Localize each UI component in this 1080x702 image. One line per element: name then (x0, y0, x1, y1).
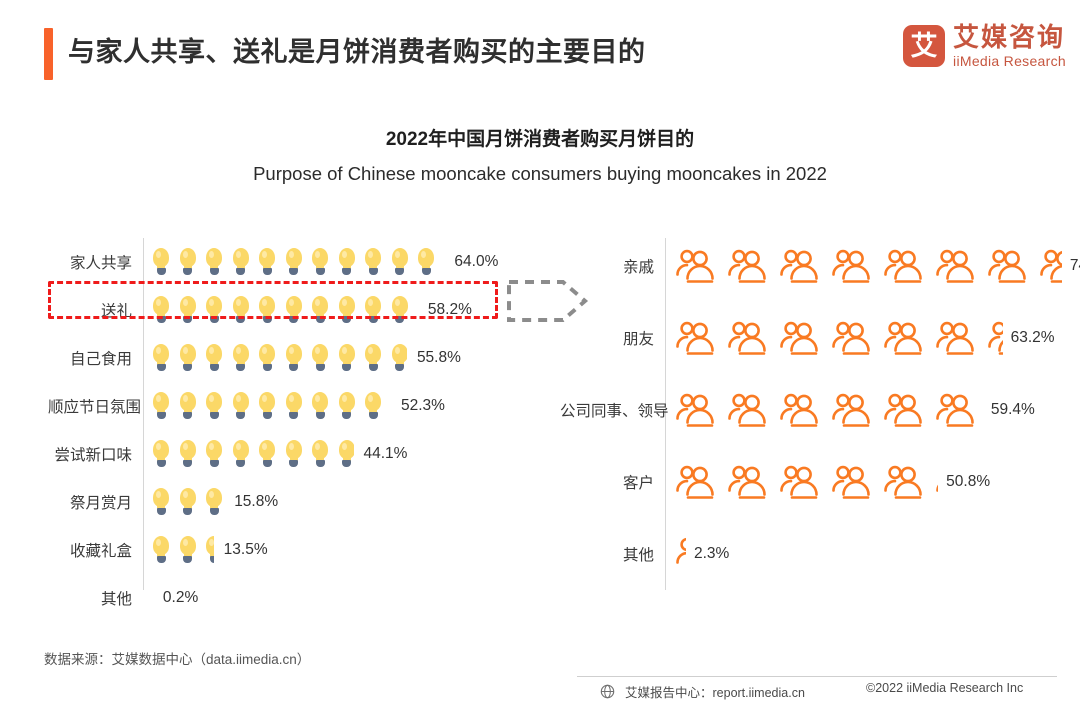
lightbulb-icon (179, 439, 197, 469)
pictogram-icons (674, 530, 686, 578)
lightbulb-icon (364, 391, 382, 421)
category-label: 自己食用 (48, 347, 132, 369)
partial-icon (934, 391, 983, 429)
people-group-icon (986, 319, 1003, 357)
chart-row: 自己食用55.8% (48, 334, 548, 382)
value-label: 59.4% (991, 386, 1035, 434)
lightbulb-icon (258, 295, 276, 325)
category-label: 收藏礼盒 (48, 539, 132, 561)
category-label: 尝试新口味 (48, 443, 132, 465)
people-group-icon (674, 247, 718, 285)
pictogram-icons (152, 286, 417, 334)
chart-row: 尝试新口味44.1% (48, 430, 548, 478)
lightbulb-icon (285, 439, 303, 469)
lightbulb-icon (311, 391, 329, 421)
purpose-pictogram-chart: 家人共享64.0%送礼58.2%自己食用55.8%顺应节日氛围52.3%尝试新口… (48, 232, 548, 602)
people-group-icon (986, 247, 1030, 285)
lightbulb-icon (258, 439, 276, 469)
chart-row: 送礼58.2% (48, 286, 548, 334)
people-group-icon (934, 391, 978, 429)
partial-icon (1038, 247, 1062, 285)
partial-icon (986, 319, 1003, 357)
people-group-icon (778, 463, 822, 501)
logo-text: 艾媒咨询 iiMedia Research (953, 24, 1066, 68)
category-label: 其他 (48, 587, 132, 609)
people-group-icon (726, 463, 770, 501)
lightbulb-icon (258, 391, 276, 421)
chart-row: 其他0.2% (48, 574, 548, 622)
lightbulb-icon (152, 247, 170, 277)
lightbulb-icon (152, 295, 170, 325)
logo-name-en: iiMedia Research (953, 54, 1066, 68)
lightbulb-icon (205, 535, 214, 565)
lightbulb-icon (311, 439, 329, 469)
lightbulb-icon (338, 247, 356, 277)
page-header: 与家人共享、送礼是月饼消费者购买的主要目的 艾 艾媒咨询 iiMedia Res… (0, 0, 1080, 104)
lightbulb-icon (179, 391, 197, 421)
chart-row: 亲戚74.6% (560, 242, 1050, 290)
chart-row: 公司同事、领导59.4% (560, 386, 1050, 434)
globe-icon (600, 684, 615, 699)
people-group-icon (778, 319, 822, 357)
footer-divider (577, 676, 1057, 677)
people-group-icon (1038, 247, 1062, 285)
lightbulb-icon (205, 295, 223, 325)
people-group-icon (882, 463, 926, 501)
partial-icon (338, 435, 354, 473)
pictogram-icons (152, 478, 224, 526)
partial-icon (391, 339, 407, 377)
people-group-icon (674, 463, 718, 501)
lightbulb-icon (205, 247, 223, 277)
lightbulb-icon (258, 247, 276, 277)
pictogram-icons (674, 242, 1062, 290)
source-note: 数据来源：艾媒数据中心（data.iimedia.cn） (44, 648, 310, 668)
lightbulb-icon (205, 487, 223, 517)
lightbulb-icon (285, 391, 303, 421)
partial-icon (674, 535, 686, 573)
pictogram-icons (152, 382, 391, 430)
pictogram-icons (152, 334, 407, 382)
lightbulb-icon (417, 247, 435, 277)
value-label: 0.2% (163, 574, 198, 622)
lightbulb-icon (205, 343, 223, 373)
chart-row: 顺应节日氛围52.3% (48, 382, 548, 430)
lightbulb-icon (311, 343, 329, 373)
value-label: 64.0% (454, 238, 498, 286)
value-label: 55.8% (417, 334, 461, 382)
people-group-icon (778, 247, 822, 285)
lightbulb-icon (338, 295, 356, 325)
lightbulb-icon (232, 247, 250, 277)
lightbulb-icon (338, 391, 356, 421)
lightbulb-icon (179, 535, 197, 565)
lightbulb-icon (311, 295, 329, 325)
lightbulb-icon (364, 343, 382, 373)
logo-name-cn: 艾媒咨询 (953, 24, 1066, 50)
chart-row: 家人共享64.0% (48, 238, 548, 286)
lightbulb-icon (391, 247, 409, 277)
people-group-icon (830, 247, 874, 285)
category-label: 公司同事、领导 (560, 399, 654, 421)
lightbulb-icon (152, 439, 170, 469)
pictogram-icons (152, 430, 354, 478)
value-label: 63.2% (1011, 314, 1055, 362)
footer-report-center-label: 艾媒报告中心：report.iimedia.cn (625, 682, 805, 701)
lightbulb-icon (232, 343, 250, 373)
people-group-icon (674, 391, 718, 429)
lightbulb-icon (179, 487, 197, 517)
value-label: 52.3% (401, 382, 445, 430)
chart-title-en: Purpose of Chinese mooncake consumers bu… (0, 163, 1080, 185)
lightbulb-icon (205, 391, 223, 421)
lightbulb-icon (152, 391, 170, 421)
lightbulb-icon (364, 295, 382, 325)
lightbulb-icon (391, 295, 409, 325)
category-label: 顺应节日氛围 (48, 395, 132, 417)
lightbulb-icon (285, 343, 303, 373)
value-label: 74.6% (1070, 242, 1080, 290)
pictogram-icons (152, 526, 214, 574)
people-group-icon (726, 319, 770, 357)
people-group-icon (934, 319, 978, 357)
lightbulb-icon (152, 535, 170, 565)
people-group-icon (726, 391, 770, 429)
category-label: 客户 (560, 471, 654, 493)
lightbulb-icon (285, 247, 303, 277)
category-label: 祭月赏月 (48, 491, 132, 513)
partial-icon (934, 463, 938, 501)
pictogram-icons (674, 314, 1003, 362)
value-label: 44.1% (363, 430, 407, 478)
value-label: 58.2% (428, 286, 472, 334)
value-label: 15.8% (234, 478, 278, 526)
category-label: 送礼 (48, 299, 132, 321)
value-label: 2.3% (694, 530, 729, 578)
category-label: 朋友 (560, 327, 654, 349)
lightbulb-icon (285, 295, 303, 325)
people-group-icon (830, 319, 874, 357)
chart-title-cn: 2022年中国月饼消费者购买月饼目的 (0, 124, 1080, 151)
dashed-arrow-right-icon (505, 272, 600, 330)
chart-row: 客户50.8% (560, 458, 1050, 506)
lightbulb-icon (364, 247, 382, 277)
lightbulb-icon (232, 295, 250, 325)
people-group-icon (778, 391, 822, 429)
pictogram-icons (674, 458, 938, 506)
people-group-icon (674, 319, 718, 357)
pictogram-icons (674, 386, 983, 434)
footer-copyright: ©2022 iiMedia Research Inc (866, 681, 1023, 695)
pictogram-icons (152, 238, 444, 286)
brand-logo: 艾 艾媒咨询 iiMedia Research (903, 24, 1066, 68)
chart-row: 祭月赏月15.8% (48, 478, 548, 526)
category-label: 其他 (560, 543, 654, 565)
people-group-icon (934, 463, 938, 501)
people-group-icon (674, 535, 686, 573)
lightbulb-icon (179, 247, 197, 277)
lightbulb-icon (152, 343, 170, 373)
lightbulb-icon (258, 343, 276, 373)
gift-recipient-pictogram-chart: 亲戚74.6%朋友63.2%公司同事、领导59.4%客户50.8%其他2.3% (560, 232, 1050, 602)
lightbulb-icon (179, 343, 197, 373)
lightbulb-icon (205, 439, 223, 469)
value-label: 13.5% (224, 526, 268, 574)
people-group-icon (882, 391, 926, 429)
lightbulb-icon (232, 439, 250, 469)
page-title: 与家人共享、送礼是月饼消费者购买的主要目的 (68, 30, 646, 69)
lightbulb-icon (152, 487, 170, 517)
lightbulb-icon (311, 247, 329, 277)
people-group-icon (726, 247, 770, 285)
partial-icon (205, 483, 224, 521)
lightbulb-icon (338, 343, 356, 373)
partial-icon (205, 531, 214, 569)
logo-mark-icon: 艾 (903, 25, 945, 67)
chart-row: 朋友63.2% (560, 314, 1050, 362)
lightbulb-icon (338, 439, 354, 469)
title-accent-bar (44, 28, 53, 80)
chart-row: 其他2.3% (560, 530, 1050, 578)
people-group-icon (882, 247, 926, 285)
lightbulb-icon (391, 343, 407, 373)
people-group-icon (934, 247, 978, 285)
people-group-icon (882, 319, 926, 357)
people-group-icon (830, 463, 874, 501)
people-group-icon (830, 391, 874, 429)
value-label: 50.8% (946, 458, 990, 506)
chart-row: 收藏礼盒13.5% (48, 526, 548, 574)
lightbulb-icon (232, 391, 250, 421)
category-label: 家人共享 (48, 251, 132, 273)
lightbulb-icon (179, 295, 197, 325)
